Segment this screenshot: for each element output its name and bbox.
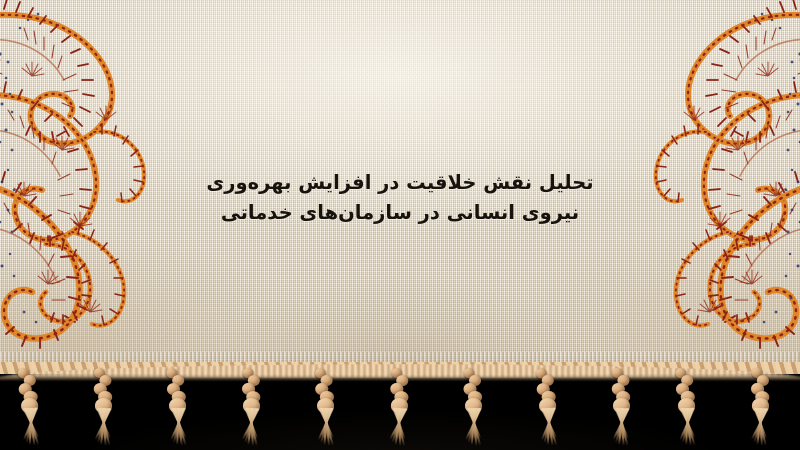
black-background-band [0,374,800,450]
title-line-1: تحلیل نقش خلاقیت در افزایش بهره‌وری [0,168,800,198]
page-title: تحلیل نقش خلاقیت در افزایش بهره‌وری نیرو… [0,168,800,228]
title-line-2: نیروی انسانی در سازمان‌های خدماتی [0,198,800,228]
textile-title-card: تحلیل نقش خلاقیت در افزایش بهره‌وری نیرو… [0,0,800,450]
